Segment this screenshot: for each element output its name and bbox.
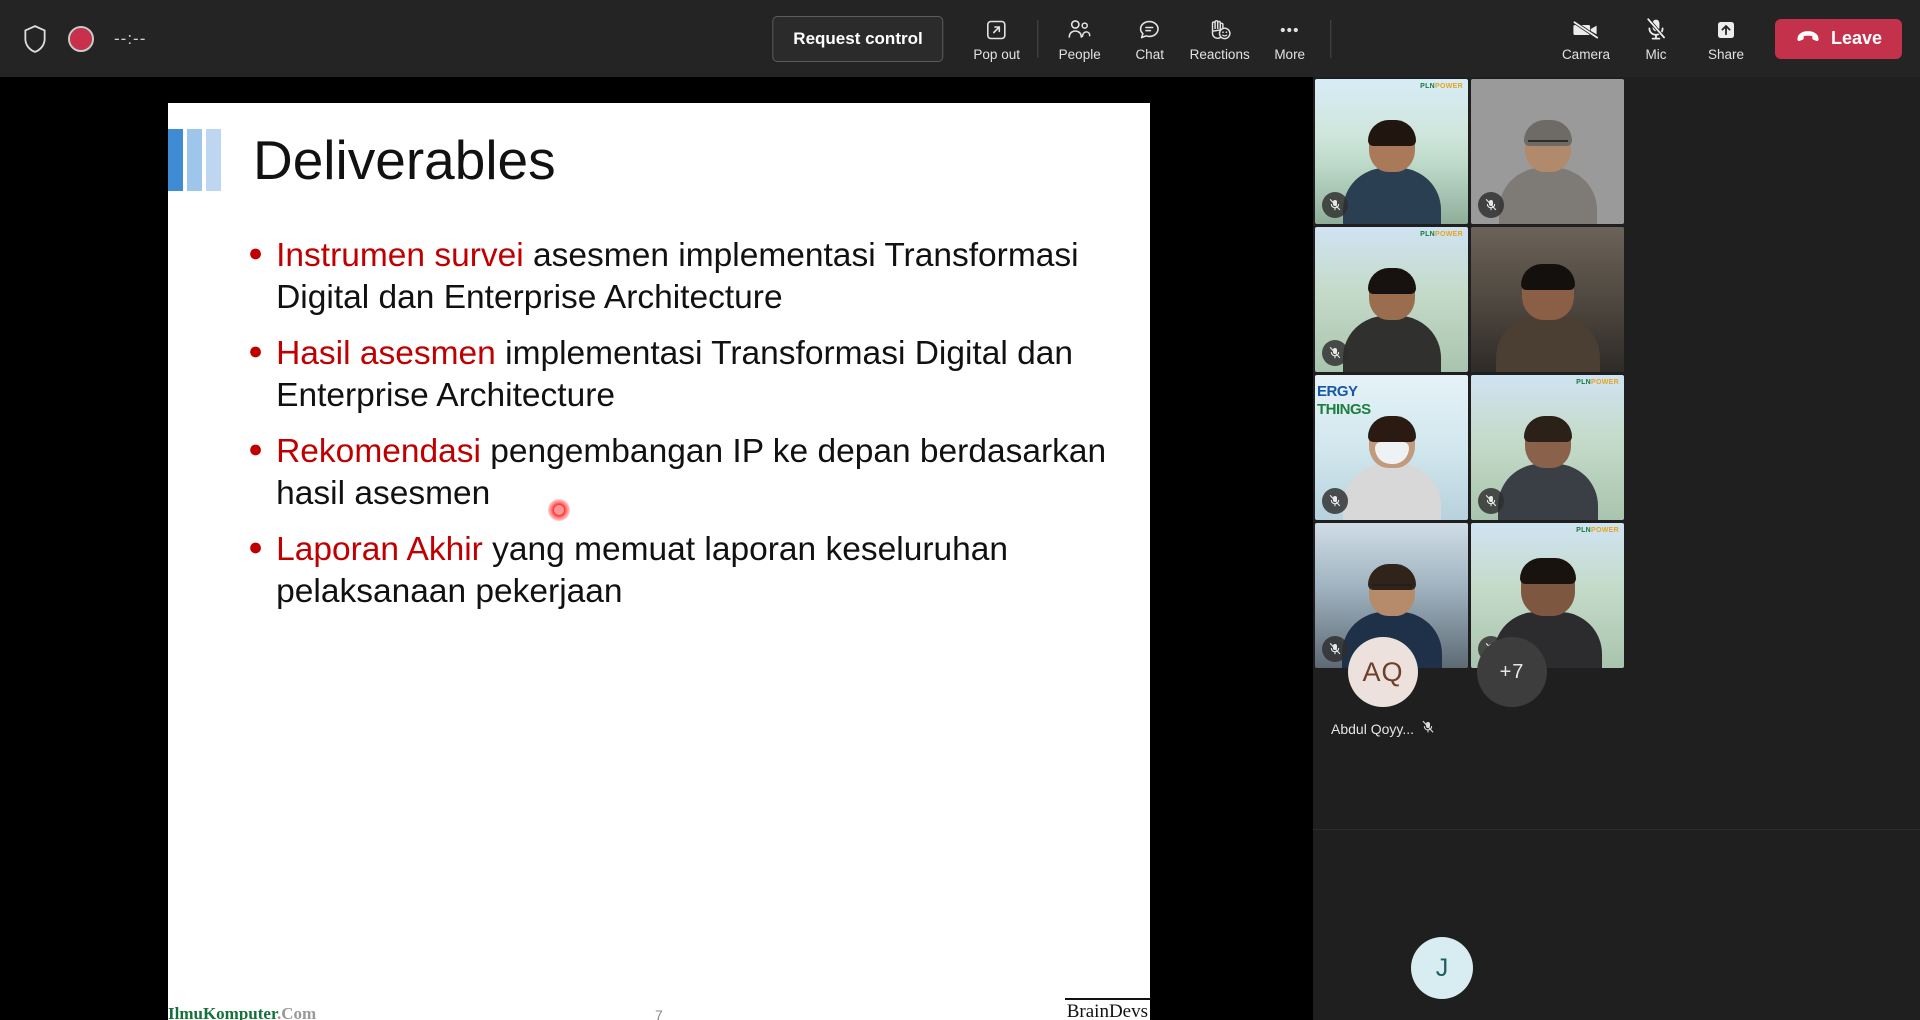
person-figure bbox=[1499, 120, 1597, 224]
participant-rail: PLNPOWER bbox=[1313, 77, 1920, 1020]
leave-label: Leave bbox=[1831, 28, 1882, 49]
slide-footer: IlmuKomputer.Com 7 BrainDevs bbox=[168, 990, 1150, 1020]
overflow-participants-cell[interactable]: +7 bbox=[1477, 637, 1547, 707]
people-label: People bbox=[1059, 47, 1101, 62]
slide-bullet-item: ● Rekomendasi pengembangan IP ke depan b… bbox=[248, 431, 1128, 514]
ilmukomputer-tld: .Com bbox=[277, 1004, 316, 1020]
share-icon bbox=[1714, 16, 1738, 44]
slide-header: Deliverables bbox=[168, 129, 556, 191]
bullet-highlight: Rekomendasi bbox=[276, 433, 481, 470]
mic-off-icon bbox=[1322, 192, 1348, 218]
participant-tile-3[interactable]: PLNPOWER bbox=[1315, 227, 1468, 372]
accent-bar-3 bbox=[206, 129, 221, 191]
participant-tile-row: PLNPOWER bbox=[1315, 227, 1625, 372]
slide-page-number: 7 bbox=[655, 1007, 663, 1020]
people-icon bbox=[1067, 16, 1093, 44]
tile-logo: PLNPOWER bbox=[1420, 83, 1463, 90]
bullet-marker-icon: ● bbox=[248, 235, 263, 318]
meeting-timer: --:-- bbox=[114, 29, 146, 49]
participant-tile-grid: PLNPOWER bbox=[1315, 79, 1625, 671]
slide-title: Deliverables bbox=[253, 133, 556, 188]
participant-avatar-group: AQ Abdul Qoyy... +7 bbox=[1331, 637, 1621, 738]
accent-bar-2 bbox=[187, 129, 202, 191]
recording-indicator-icon bbox=[68, 26, 94, 52]
leave-button[interactable]: Leave bbox=[1775, 19, 1902, 59]
shared-screen-stage[interactable]: Deliverables ● Instrumen survei asesmen … bbox=[0, 77, 1313, 1020]
secondary-avatar[interactable]: J bbox=[1411, 937, 1473, 999]
bullet-marker-icon: ● bbox=[248, 431, 263, 514]
mic-label: Mic bbox=[1645, 47, 1666, 62]
chat-icon bbox=[1138, 16, 1162, 44]
slide-accent-bars bbox=[168, 129, 221, 191]
bullet-highlight: Instrumen survei bbox=[276, 237, 524, 274]
participant-tile-4[interactable] bbox=[1471, 227, 1624, 372]
participant-tile-5[interactable]: ERGY THINGS bbox=[1315, 375, 1468, 520]
tile-banner-text: ERGY bbox=[1317, 383, 1358, 400]
pop-out-icon bbox=[985, 16, 1009, 44]
toolbar-center-group: Request control Pop out bbox=[772, 0, 1337, 77]
camera-off-icon bbox=[1571, 16, 1601, 44]
toolbar-divider-2 bbox=[1331, 20, 1332, 58]
participant-tile-row: PLNPOWER bbox=[1315, 79, 1625, 224]
mic-off-icon bbox=[1322, 340, 1348, 366]
meeting-toolbar: --:-- Request control Pop out bbox=[0, 0, 1920, 77]
participant-tile-row: ERGY THINGS bbox=[1315, 375, 1625, 520]
slide-bullet-item: ● Laporan Akhir yang memuat laporan kese… bbox=[248, 529, 1128, 612]
teams-meeting-window: --:-- Request control Pop out bbox=[0, 0, 1920, 1020]
shield-icon bbox=[22, 24, 48, 54]
reactions-label: Reactions bbox=[1190, 47, 1250, 62]
reactions-icon bbox=[1207, 16, 1233, 44]
reactions-button[interactable]: Reactions bbox=[1185, 8, 1255, 70]
mic-off-icon bbox=[1644, 16, 1668, 44]
camera-label: Camera bbox=[1562, 47, 1610, 62]
pop-out-label: Pop out bbox=[973, 47, 1020, 62]
mic-toggle-button[interactable]: Mic bbox=[1621, 8, 1691, 70]
participant-tile-6[interactable]: PLNPOWER bbox=[1471, 375, 1624, 520]
slide-bullet-item: ● Hasil asesmen implementasi Transformas… bbox=[248, 333, 1128, 416]
toolbar-right-group: Camera Mic bbox=[1551, 0, 1902, 77]
person-figure bbox=[1343, 416, 1441, 520]
request-control-button[interactable]: Request control bbox=[772, 16, 943, 62]
bullet-marker-icon: ● bbox=[248, 529, 263, 612]
hang-up-icon bbox=[1795, 28, 1821, 49]
avatar-name: Abdul Qoyy... bbox=[1331, 721, 1414, 737]
person-figure bbox=[1498, 416, 1598, 520]
tile-logo: PLNPOWER bbox=[1576, 379, 1619, 386]
more-label: More bbox=[1274, 47, 1305, 62]
more-ellipsis-icon bbox=[1277, 16, 1303, 44]
person-figure bbox=[1496, 264, 1600, 372]
rail-divider bbox=[1313, 829, 1920, 830]
tile-logo: PLNPOWER bbox=[1576, 527, 1619, 534]
avatar: AQ bbox=[1348, 637, 1418, 707]
person-figure bbox=[1343, 120, 1441, 224]
share-button[interactable]: Share bbox=[1691, 8, 1761, 70]
toolbar-divider-1 bbox=[1038, 20, 1039, 58]
bullet-marker-icon: ● bbox=[248, 333, 263, 416]
person-figure bbox=[1343, 268, 1441, 372]
chat-label: Chat bbox=[1135, 47, 1164, 62]
braindevs-logo: BrainDevs bbox=[1065, 998, 1150, 1020]
overflow-count-badge[interactable]: +7 bbox=[1477, 637, 1547, 707]
toolbar-left-group: --:-- bbox=[0, 24, 146, 54]
participant-avatar-cell[interactable]: AQ Abdul Qoyy... bbox=[1331, 637, 1435, 738]
mic-off-icon bbox=[1322, 488, 1348, 514]
laser-pointer-cursor bbox=[548, 499, 570, 521]
mic-off-icon bbox=[1478, 192, 1504, 218]
video-feed bbox=[1471, 227, 1624, 372]
chat-button[interactable]: Chat bbox=[1115, 8, 1185, 70]
people-button[interactable]: People bbox=[1045, 8, 1115, 70]
ilmukomputer-brand: IlmuKomputer bbox=[168, 1004, 277, 1020]
presentation-slide: Deliverables ● Instrumen survei asesmen … bbox=[168, 103, 1150, 1020]
pop-out-button[interactable]: Pop out bbox=[962, 8, 1032, 70]
accent-bar-1 bbox=[168, 129, 183, 191]
avatar-row: AQ Abdul Qoyy... +7 bbox=[1331, 637, 1621, 738]
participant-tile-1[interactable]: PLNPOWER bbox=[1315, 79, 1468, 224]
bullet-highlight: Hasil asesmen bbox=[276, 335, 496, 372]
ilmukomputer-logo: IlmuKomputer.Com bbox=[168, 1004, 316, 1020]
more-button[interactable]: More bbox=[1255, 8, 1325, 70]
mic-off-icon bbox=[1478, 488, 1504, 514]
avatar-name-row: Abdul Qoyy... bbox=[1331, 720, 1435, 738]
bullet-highlight: Laporan Akhir bbox=[276, 531, 483, 568]
share-label: Share bbox=[1708, 47, 1744, 62]
participant-tile-2[interactable] bbox=[1471, 79, 1624, 224]
slide-bullet-item: ● Instrumen survei asesmen implementasi … bbox=[248, 235, 1128, 318]
camera-toggle-button[interactable]: Camera bbox=[1551, 8, 1621, 70]
tile-logo: PLNPOWER bbox=[1420, 231, 1463, 238]
slide-bullet-list: ● Instrumen survei asesmen implementasi … bbox=[248, 235, 1128, 627]
mic-off-icon bbox=[1421, 720, 1435, 738]
